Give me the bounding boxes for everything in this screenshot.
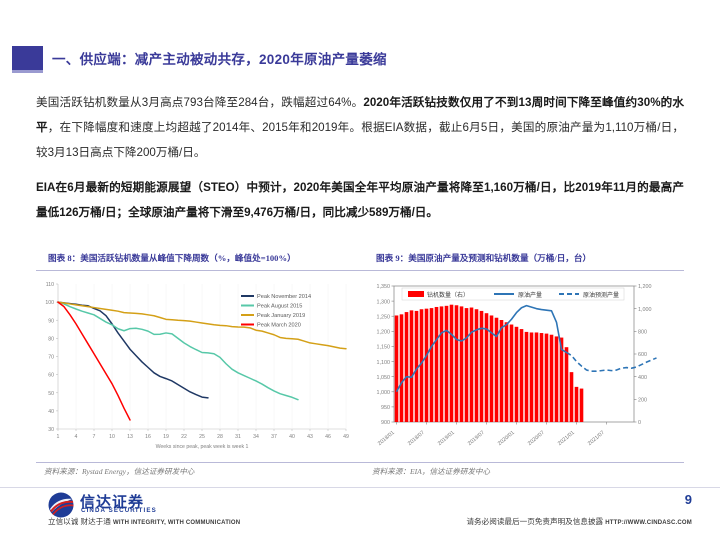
bar xyxy=(410,310,414,422)
figure-8-svg: 3040506070809010011014710131619222528313… xyxy=(36,274,354,460)
bar xyxy=(520,329,524,422)
chart-label: 43 xyxy=(307,434,313,440)
chart-label: 2021/01 xyxy=(557,430,576,447)
chart-label: 70 xyxy=(48,355,54,361)
chart-label: 13 xyxy=(127,434,133,440)
chart-label: 19 xyxy=(163,434,169,440)
chart-label: 50 xyxy=(48,391,54,397)
chart-label: 2020/07 xyxy=(527,430,546,447)
figure-8-source: 资料来源：Rystad Energy，信达证券研发中心 xyxy=(44,466,194,477)
tagline-cn: 立信以诚 财达于通 xyxy=(48,517,111,526)
bar xyxy=(540,333,544,422)
chart-label: 60 xyxy=(48,373,54,379)
chart-label: 40 xyxy=(48,409,54,415)
chart-label: 31 xyxy=(235,434,241,440)
chart-label: 950 xyxy=(381,405,390,411)
bar xyxy=(450,305,454,422)
chart-label: 200 xyxy=(638,398,647,404)
bar xyxy=(580,389,584,422)
company-logo: 信达证券 CINDA SECURITIES xyxy=(48,492,278,518)
paragraph-1: 美国活跃钻机数量从3月高点793台降至284台，跌幅超过64%。2020年活跃钻… xyxy=(36,90,684,165)
bar xyxy=(530,332,534,422)
figure-8-caption: 图表 8：美国活跃钻机数量从峰值下降周数（%，峰值处=100%） xyxy=(48,252,296,264)
chart-label: 1,300 xyxy=(377,299,391,305)
page-title: 一、供应端：减产主动被动共存，2020年原油产量萎缩 xyxy=(52,48,387,68)
chart-label: 2021/07 xyxy=(587,430,606,447)
footer-tagline: 立信以诚 财达于通 WITH INTEGRITY, WITH COMMUNICA… xyxy=(48,516,240,527)
chart-label: 49 xyxy=(343,434,349,440)
chart-label: 600 xyxy=(638,352,647,358)
text-run: 美国活跃钻机数量从3月高点793台降至284台，跌幅超过64%。 xyxy=(36,96,363,109)
chart-label: 7 xyxy=(93,434,96,440)
chart-label: Weeks since peak, peak week is week 1 xyxy=(156,444,249,450)
bar xyxy=(405,312,409,422)
figure-8-chart: 3040506070809010011014710131619222528313… xyxy=(36,274,354,460)
chart-label: 25 xyxy=(199,434,205,440)
title-accent-marker xyxy=(12,46,43,70)
bar xyxy=(440,306,444,422)
bar xyxy=(570,372,574,422)
chart-label: 1 xyxy=(57,434,60,440)
chart-label: 2018/07 xyxy=(407,430,426,447)
chart-label: 原油产量 xyxy=(518,291,542,299)
chart-label: Peak August 2015 xyxy=(257,304,302,310)
chart-label: Peak November 2014 xyxy=(257,294,311,300)
chart-label: 16 xyxy=(145,434,151,440)
series-line-0 xyxy=(58,302,208,398)
bar xyxy=(425,309,429,422)
bar xyxy=(460,306,464,422)
bar xyxy=(455,305,459,422)
figure-9-chart: 9009501,0001,0501,1001,1501,2001,2501,30… xyxy=(364,274,684,460)
chart-label: 2019/07 xyxy=(467,430,486,447)
chart-label: 1,200 xyxy=(377,330,391,336)
chart-label: 钻机数量（右） xyxy=(427,291,469,299)
bar xyxy=(575,387,579,422)
chart-label: 1,000 xyxy=(377,390,391,396)
disclaimer-text: 请务必阅读最后一页免责声明及信息披露 xyxy=(466,517,603,526)
figure-9-caption: 图表 9：美国原油产量及预测和钻机数量（万桶/日，台） xyxy=(376,252,591,264)
bar xyxy=(545,334,549,422)
figure-9-source: 资料来源：EIA，信达证券研发中心 xyxy=(372,466,490,477)
logo-text-en: CINDA SECURITIES xyxy=(81,507,157,514)
chart-label: 原油预测产量 xyxy=(583,291,619,299)
company-url[interactable]: HTTP://WWW.CINDASC.COM xyxy=(605,520,692,526)
page-number: 9 xyxy=(685,492,692,507)
bar xyxy=(395,315,399,422)
chart-label: 34 xyxy=(253,434,259,440)
source-divider xyxy=(36,462,684,463)
bar xyxy=(525,332,529,422)
bar xyxy=(430,308,434,422)
slide: 一、供应端：减产主动被动共存，2020年原油产量萎缩 美国活跃钻机数量从3月高点… xyxy=(0,0,720,540)
chart-label: 110 xyxy=(46,282,54,288)
bar xyxy=(505,322,509,422)
figure-caption-row: 图表 8：美国活跃钻机数量从峰值下降周数（%，峰值处=100%） 图表 9：美国… xyxy=(36,252,684,270)
chart-label: 40 xyxy=(289,434,295,440)
bar xyxy=(435,307,439,422)
chart-label: 900 xyxy=(381,420,390,426)
chart-label: Peak January 2019 xyxy=(257,313,305,319)
bar xyxy=(470,308,474,422)
chart-label: 46 xyxy=(325,434,331,440)
title-accent-marker-shadow xyxy=(12,70,43,73)
paragraph-2: EIA在6月最新的短期能源展望（STEO）中预计，2020年美国全年平均原油产量… xyxy=(36,175,684,225)
chart-label: 1,250 xyxy=(377,314,391,320)
chart-label: 1,100 xyxy=(377,360,391,366)
chart-label: 100 xyxy=(45,300,54,306)
bar xyxy=(500,320,504,422)
chart-label: 4 xyxy=(75,434,78,440)
bar xyxy=(510,325,514,422)
chart-label: 2020/01 xyxy=(497,430,516,447)
bar xyxy=(565,347,569,422)
chart-label: 30 xyxy=(48,427,54,433)
chart-label: 28 xyxy=(217,434,223,440)
chart-label: 10 xyxy=(109,434,115,440)
footer-disclaimer: 请务必阅读最后一页免责声明及信息披露 HTTP://WWW.CINDASC.CO… xyxy=(466,516,692,527)
chart-label: 2019/01 xyxy=(437,430,456,447)
bar xyxy=(515,327,519,422)
tagline-en: WITH INTEGRITY, WITH COMMUNICATION xyxy=(113,520,240,526)
chart-label: 1,350 xyxy=(377,284,391,290)
chart-label: 22 xyxy=(181,434,187,440)
cinda-logo-icon xyxy=(48,492,74,518)
chart-label: 0 xyxy=(638,420,641,426)
chart-label: 1,000 xyxy=(638,307,652,313)
bar xyxy=(535,332,539,422)
text-run-bold: EIA在6月最新的短期能源展望（STEO）中预计，2020年美国全年平均原油产量… xyxy=(36,181,684,219)
chart-label: 1,050 xyxy=(377,375,391,381)
text-run: ，在下降幅度和速度上均超越了2014年、2015年和2019年。根据EIA数据，… xyxy=(36,121,684,159)
footer-divider xyxy=(0,487,720,488)
chart-label: 90 xyxy=(48,318,54,324)
figure-9-svg: 9009501,0001,0501,1001,1501,2001,2501,30… xyxy=(364,274,684,460)
chart-label: 1,200 xyxy=(638,284,652,290)
chart-label: 1,150 xyxy=(377,345,391,351)
caption-divider xyxy=(36,270,684,271)
bar xyxy=(400,314,404,422)
figure-9-legend: 钻机数量（右）原油产量原油预测产量 xyxy=(402,288,624,300)
bar xyxy=(555,336,559,422)
legend-swatch-bar xyxy=(408,291,424,297)
bar xyxy=(475,309,479,422)
chart-label: 2018/01 xyxy=(377,430,396,447)
bar xyxy=(465,308,469,422)
bar xyxy=(445,306,449,422)
bar xyxy=(550,335,554,422)
chart-label: 80 xyxy=(48,336,54,342)
chart-label: Peak March 2020 xyxy=(257,323,301,329)
chart-label: 37 xyxy=(271,434,277,440)
body-content: 美国活跃钻机数量从3月高点793台降至284台，跌幅超过64%。2020年活跃钻… xyxy=(36,90,684,235)
chart-label: 800 xyxy=(638,330,647,336)
chart-label: 400 xyxy=(638,375,647,381)
